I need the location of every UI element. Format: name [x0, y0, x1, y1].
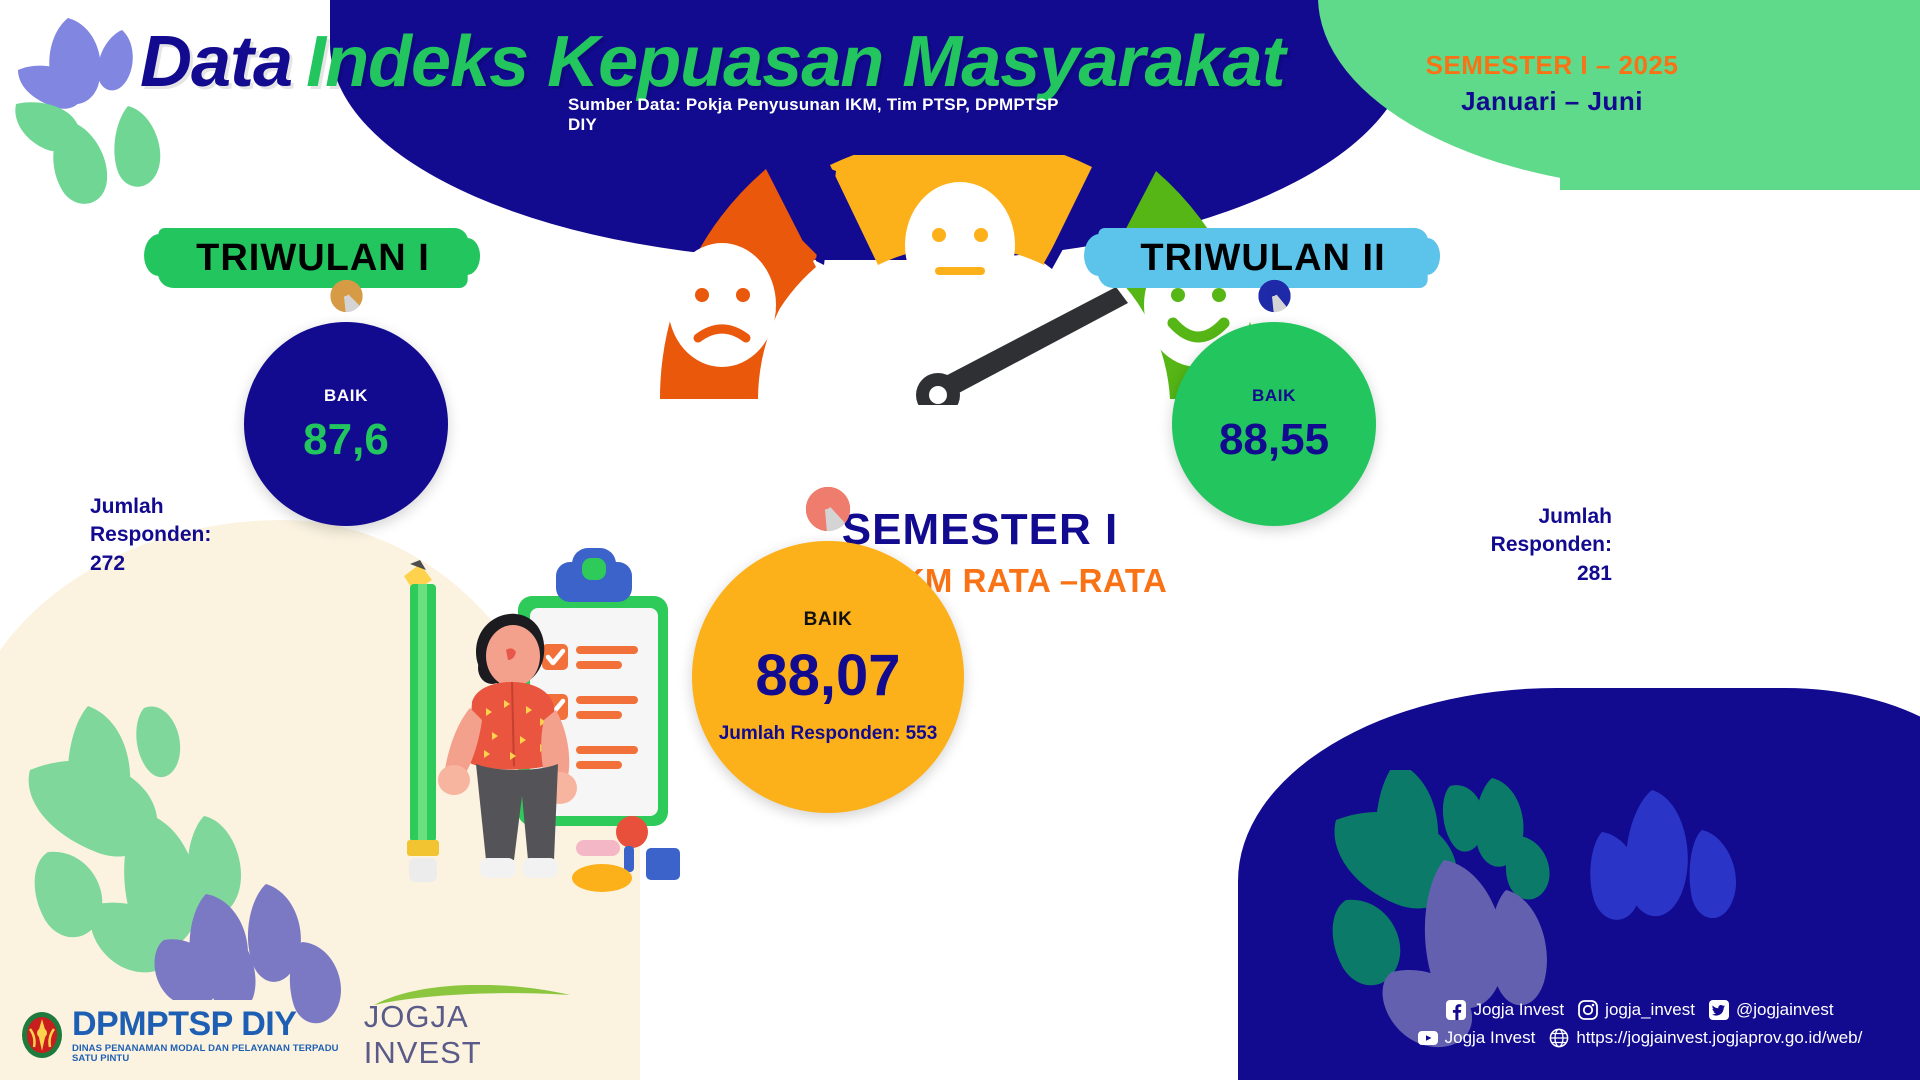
footer-social-group: Jogja Invest jogja_invest @jogjainvest [1380, 1000, 1900, 1048]
data-source-text: Sumber Data: Pokja Penyusunan IKM, Tim P… [568, 95, 1088, 135]
semester-badge: SEMESTER I – 2025 Januari – Juni [1392, 50, 1712, 117]
gauge-semester-average: BAIK 88,07 Jumlah Responden: 553 [660, 509, 996, 845]
responden-triwulan-1-label: Jumlah Responden: [90, 493, 270, 550]
semester-months: Januari – Juni [1392, 86, 1712, 117]
semester-label: SEMESTER I – 2025 [1392, 50, 1712, 81]
instagram-icon [1578, 1000, 1598, 1020]
gauge-semester-responden: Jumlah Responden: 553 [719, 723, 938, 745]
social-twitter[interactable]: @jogjainvest [1709, 1000, 1834, 1020]
social-website-label: https://jogjainvest.jogjaprov.go.id/web/ [1576, 1028, 1862, 1048]
twitter-icon [1709, 1000, 1729, 1020]
social-youtube[interactable]: Jogja Invest [1418, 1028, 1536, 1048]
facebook-icon [1446, 1000, 1466, 1020]
social-facebook[interactable]: Jogja Invest [1446, 1000, 1564, 1020]
jogja-invest-logotype: JOGJA INVEST [364, 999, 560, 1071]
badge-triwulan-2-label: TRIWULAN II [1140, 237, 1385, 280]
page-title: DataIndeks Kepuasan Masyarakat [140, 26, 1340, 98]
social-instagram[interactable]: jogja_invest [1578, 1000, 1695, 1020]
responden-triwulan-2-count: 281 [1412, 560, 1612, 588]
social-twitter-label: @jogjainvest [1736, 1000, 1834, 1020]
pencil-icon [404, 560, 439, 882]
social-row-2: Jogja Invest https://jogjainvest.jogjapr… [1380, 1028, 1900, 1048]
sad-face-icon [668, 243, 776, 367]
title-main: Indeks Kepuasan Masyarakat [306, 22, 1284, 102]
infographic-canvas: DataIndeks Kepuasan Masyarakat Sumber Da… [0, 0, 1920, 1080]
badge-triwulan-1-label: TRIWULAN I [196, 237, 430, 280]
gauge-triwulan-1-core: BAIK 87,6 [244, 322, 448, 526]
swoosh-icon [372, 985, 572, 1007]
social-facebook-label: Jogja Invest [1473, 1000, 1564, 1020]
illustration-person-clipboard [380, 540, 710, 900]
logo-sub-text: DINAS PENANAMAN MODAL DAN PELAYANAN TERP… [72, 1044, 350, 1063]
gauge-triwulan-1-grade: BAIK [324, 386, 368, 406]
props-icons [572, 816, 680, 892]
responden-triwulan-2: Jumlah Responden: 281 [1412, 503, 1612, 588]
title-prefix: Data [140, 22, 292, 102]
gauge-semester-grade: BAIK [804, 609, 853, 631]
footer-logo-group: DPMPTSP DIY DINAS PENANAMAN MODAL DAN PE… [20, 1000, 560, 1070]
social-instagram-label: jogja_invest [1605, 1000, 1695, 1020]
jogja-invest-text: JOGJA INVEST [364, 999, 482, 1070]
badge-triwulan-1: TRIWULAN I [158, 228, 468, 288]
diy-crest-icon [20, 1011, 64, 1059]
gauge-semester-core: BAIK 88,07 Jumlah Responden: 553 [692, 541, 964, 813]
responden-triwulan-2-label: Jumlah Responden: [1412, 503, 1612, 560]
badge-triwulan-2: TRIWULAN II [1098, 228, 1428, 288]
gauge-triwulan-2-value: 88,55 [1219, 418, 1329, 462]
gauge-triwulan-1-value: 87,6 [303, 418, 389, 462]
social-website[interactable]: https://jogjainvest.jogjaprov.go.id/web/ [1549, 1028, 1862, 1048]
youtube-icon [1418, 1028, 1438, 1048]
gauge-triwulan-2-core: BAIK 88,55 [1172, 322, 1376, 526]
gauge-triwulan-2-grade: BAIK [1252, 386, 1296, 406]
dpmptsp-logotype: DPMPTSP DIY DINAS PENANAMAN MODAL DAN PE… [72, 1007, 350, 1063]
gauge-semester-value: 88,07 [755, 647, 900, 705]
social-youtube-label: Jogja Invest [1445, 1028, 1536, 1048]
responden-triwulan-1: Jumlah Responden: 272 [90, 493, 270, 578]
logo-main-text: DPMPTSP DIY [72, 1007, 350, 1041]
social-row-1: Jogja Invest jogja_invest @jogjainvest [1380, 1000, 1900, 1020]
globe-icon [1549, 1028, 1569, 1048]
responden-triwulan-1-count: 272 [90, 550, 270, 578]
gauge-triwulan-2: BAIK 88,55 [1146, 296, 1402, 552]
